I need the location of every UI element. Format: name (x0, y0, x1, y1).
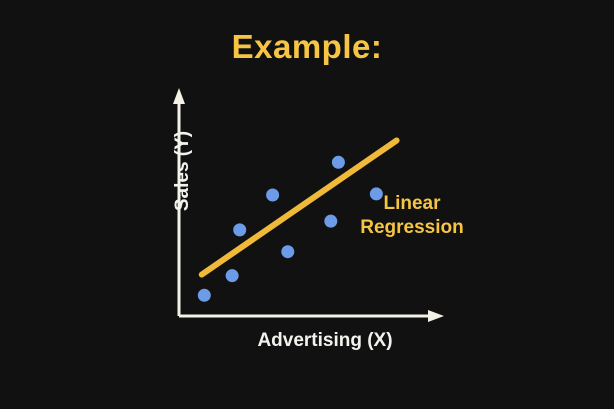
x-axis-arrow-icon (428, 310, 444, 322)
data-point (324, 215, 337, 228)
data-point (233, 223, 246, 236)
data-point (266, 189, 279, 202)
data-point (281, 245, 294, 258)
y-axis-label: Sales (Y) (172, 106, 194, 236)
x-axis-label: Advertising (X) (185, 330, 465, 352)
regression-annotation: Linear Regression (352, 192, 472, 241)
data-point (198, 289, 211, 302)
data-point (226, 269, 239, 282)
y-axis-arrow-icon (173, 88, 185, 104)
annotation-line-1: Linear (352, 192, 472, 216)
slide-canvas: Example: Sales (Y) Advertising (X) Linea… (0, 0, 614, 409)
data-point (332, 156, 345, 169)
annotation-line-2: Regression (352, 216, 472, 240)
